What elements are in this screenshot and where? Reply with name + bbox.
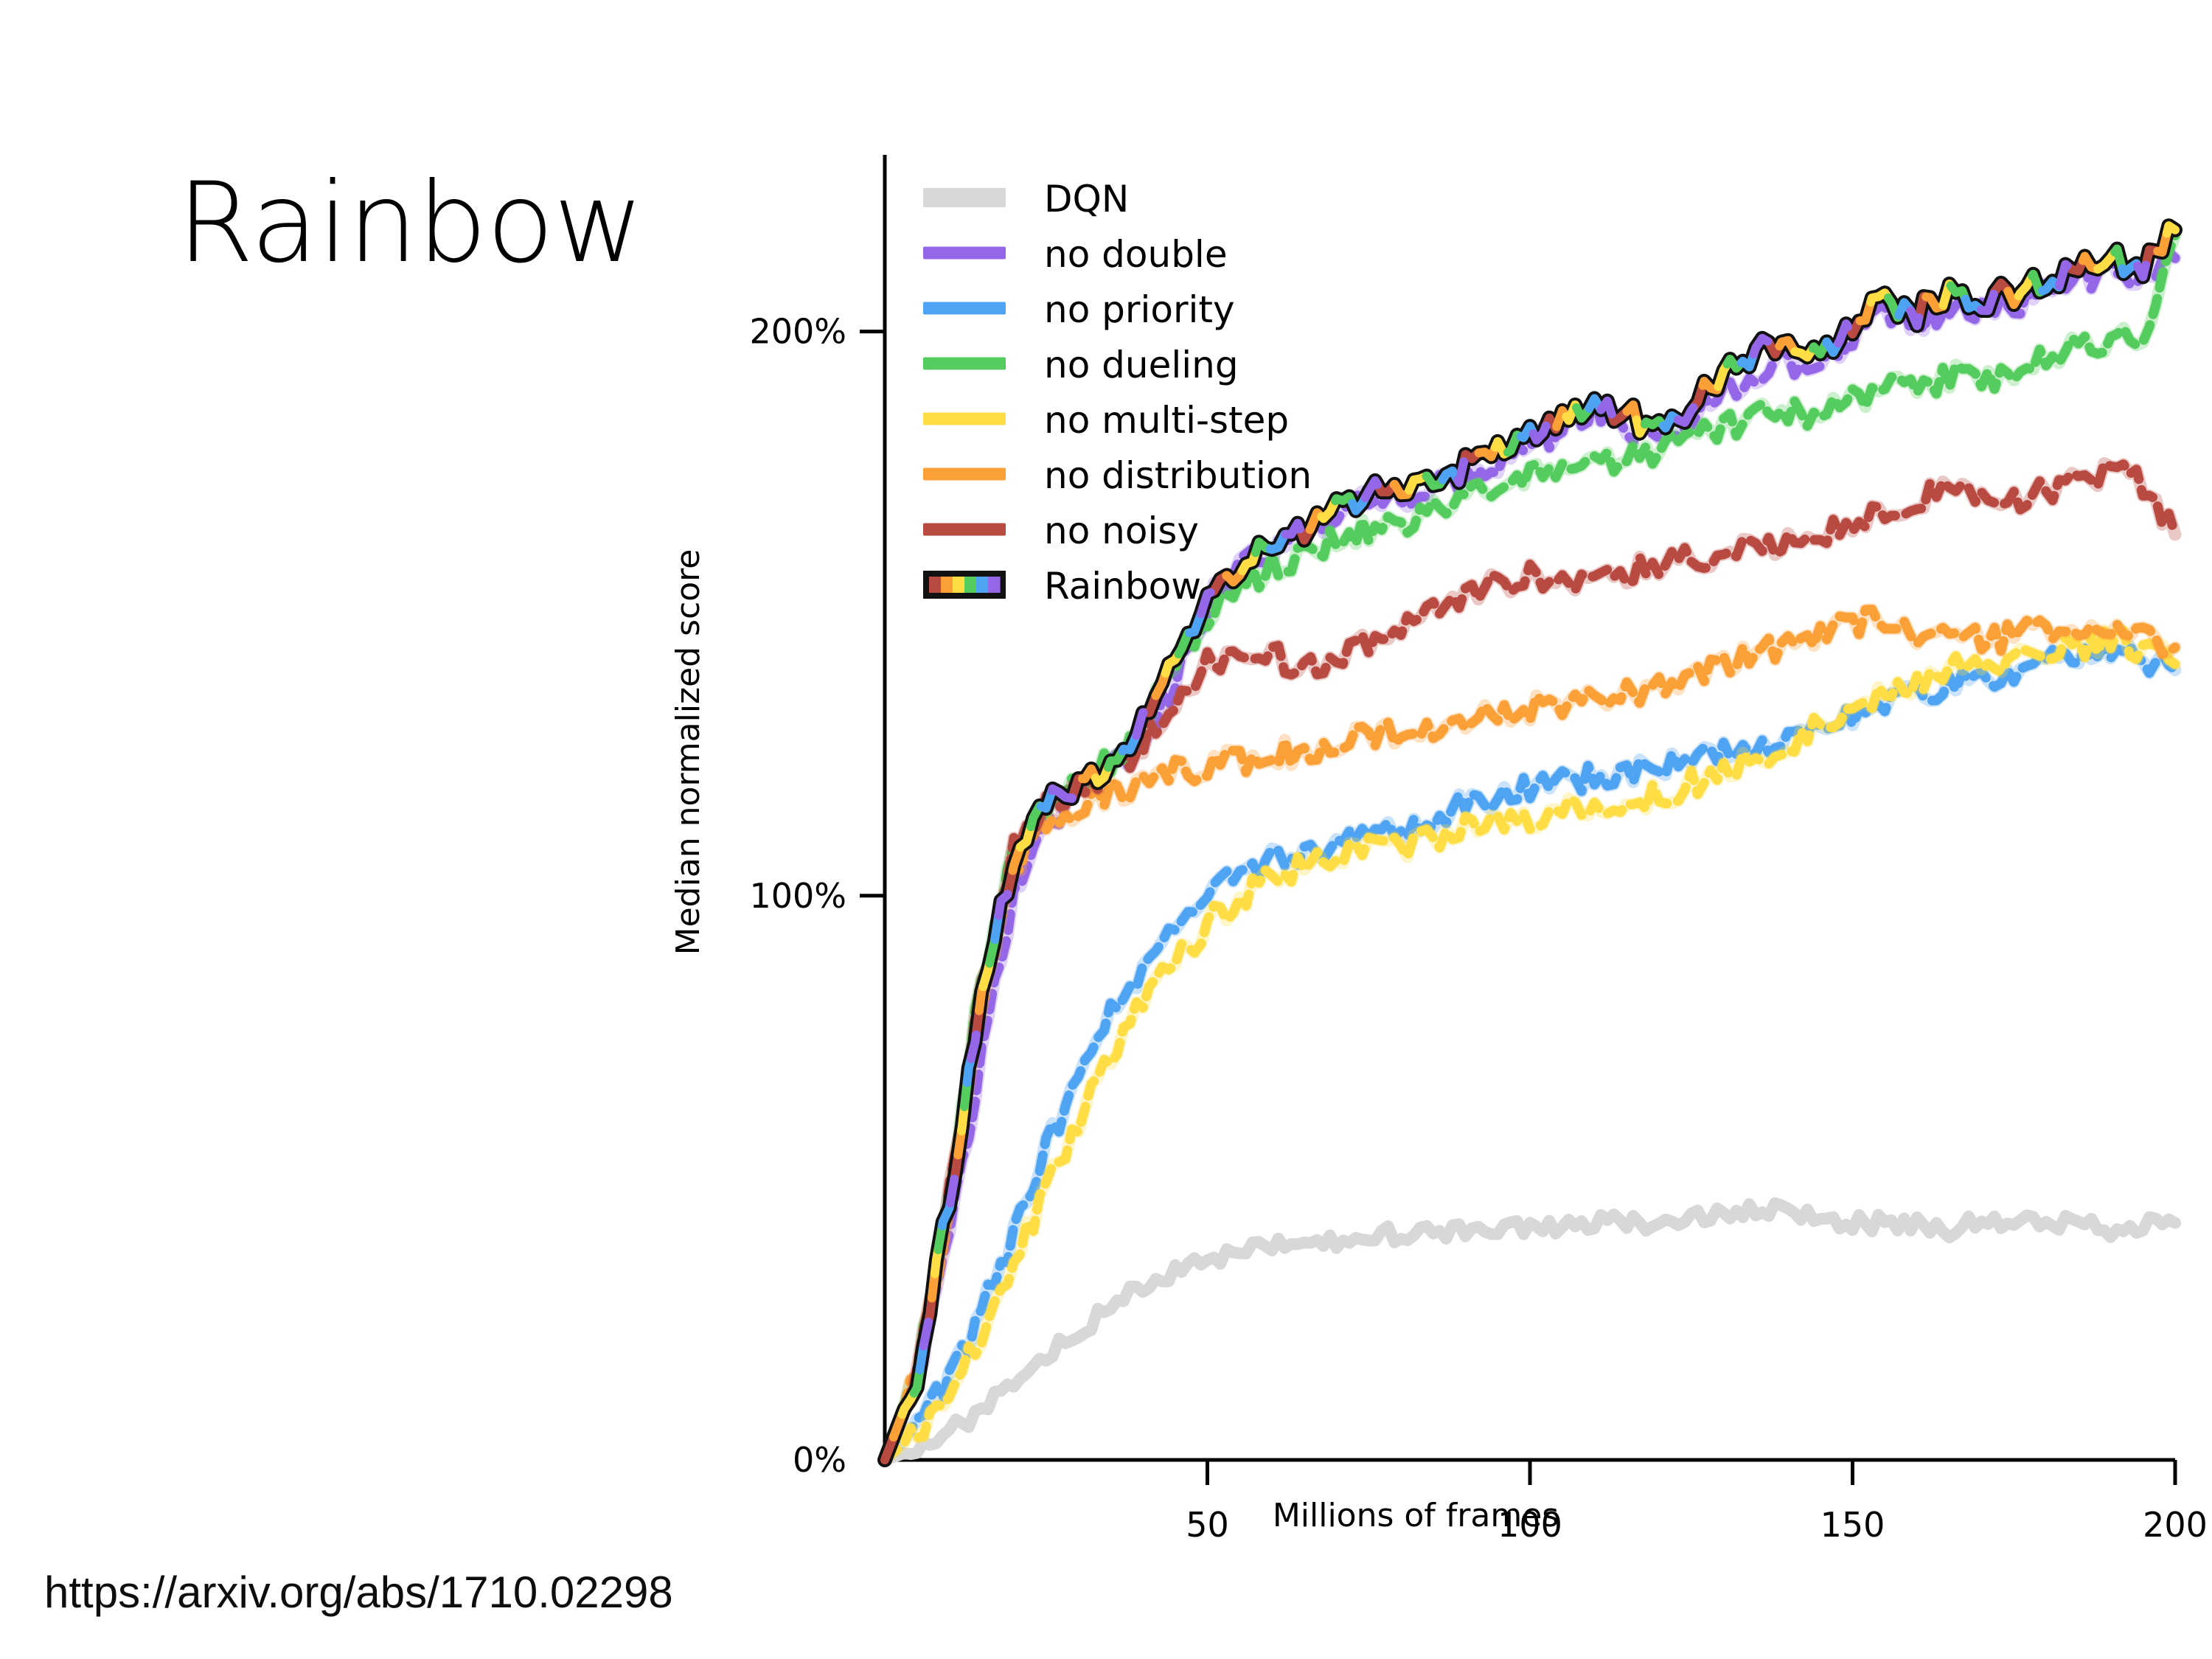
series-line-no-noisy (885, 463, 2175, 1460)
no-dueling-swatch (923, 358, 1006, 370)
y-axis-label: Median normalized score (669, 549, 707, 956)
rainbow-performance-chart: 0%100%200%50100150200 DQNno doubleno pri… (664, 103, 2212, 1563)
legend-label: no priority (1044, 288, 1235, 331)
x-tick-label: 50 (1186, 1505, 1229, 1545)
legend-label: no double (1044, 233, 1228, 276)
no-multi-step-swatch (923, 413, 1006, 425)
chart-figure: 0%100%200%50100150200 DQNno doubleno pri… (664, 103, 2212, 1563)
legend-label: no multi-step (1044, 399, 1289, 442)
legend-label: DQN (1044, 178, 1129, 220)
legend-item-no-multi-step[interactable]: no multi-step (923, 399, 1289, 442)
no-priority-swatch (923, 302, 1006, 315)
x-axis-label: Millions of frames (1273, 1497, 1559, 1534)
x-tick-label: 200 (2143, 1505, 2208, 1545)
legend-item-rainbow[interactable]: Rainbow (923, 565, 1201, 608)
source-url-text: https://arxiv.org/abs/1710.02298 (44, 1567, 673, 1618)
legend-item-no-dueling[interactable]: no dueling (923, 344, 1239, 386)
y-tick-label: 100% (749, 876, 846, 916)
y-tick-label: 200% (749, 312, 846, 352)
legend-item-no-priority[interactable]: no priority (923, 288, 1235, 331)
legend-label: no noisy (1044, 509, 1199, 552)
x-tick-label: 150 (1820, 1505, 1885, 1545)
y-tick-label: 0% (793, 1440, 846, 1480)
series-halo-no-noisy (885, 463, 2175, 1460)
legend-item-no-noisy[interactable]: no noisy (923, 509, 1199, 552)
dqn-swatch (923, 188, 1006, 207)
legend-label: no distribution (1044, 454, 1312, 497)
no-double-swatch (923, 247, 1006, 260)
legend-item-dqn[interactable]: DQN (923, 178, 1129, 220)
legend-item-no-double[interactable]: no double (923, 233, 1228, 276)
no-noisy-swatch (923, 524, 1006, 536)
no-distribution-swatch (923, 468, 1006, 481)
legend-item-no-distribution[interactable]: no distribution (923, 454, 1312, 497)
legend-label: Rainbow (1044, 565, 1201, 608)
page-title: Rainbow (177, 166, 643, 282)
series-line-DQN (885, 1203, 2175, 1460)
legend-label: no dueling (1044, 344, 1239, 386)
